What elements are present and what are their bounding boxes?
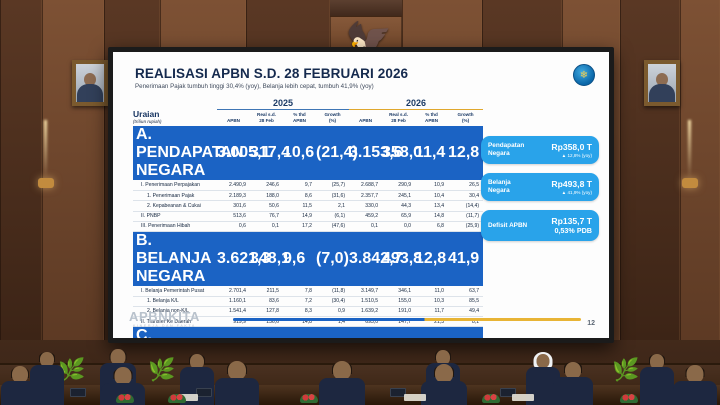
table-head: Uraian (triliun rupiah) 2025 2026 APBN R… [133,98,483,126]
row-value: 48,6 [250,327,283,338]
row-value: (11,8) [316,286,349,296]
table-row: A. PENDAPATAN NEGARA3.005,1317,410,6(21,… [133,126,483,180]
row-value: (25,7) [316,180,349,190]
apbnkita-tagline: KINERJA DAN FAKTA [129,324,200,328]
seated-official [638,347,676,405]
row-value: (173,8) [448,327,483,338]
slide-title: REALISASI APBN S.D. 28 FEBRUARI 2026 [135,66,408,81]
col-2025-real: Real s.d.28 Feb [250,110,283,127]
row-value: 7,8 [283,286,316,296]
row-label: C. KESEIMBANGAN PRIMER [133,327,217,338]
row-value: 11,0 [415,286,448,296]
row-value: 14,8 [415,211,448,221]
laptop [70,388,86,397]
person-head [537,354,550,368]
row-value: (25,9) [448,221,483,231]
row-value: 3.153,6 [349,126,382,180]
row-label: A. PENDAPATAN NEGARA [133,126,217,180]
row-value: 348,1 [250,231,283,286]
row-value: 63,7 [448,286,483,296]
table-body: A. PENDAPATAN NEGARA3.005,1317,410,6(21,… [133,126,483,338]
row-value: 10,3 [415,296,448,306]
table-row: I. Penerimaan Perpajakan2.490,9246,69,7(… [133,180,483,190]
row-value: 211,5 [250,286,283,296]
table-row: II. PNBP513,676,714,9(6,1)459,265,914,8(… [133,211,483,221]
summary-box-label: Defisit APBN [488,222,532,230]
row-value: 12,8 [448,126,483,180]
row-value: 10,4 [415,191,448,201]
table-year-header-row: Uraian (triliun rupiah) 2025 2026 [133,98,483,110]
person-torso [421,381,467,405]
row-value: 0,9 [316,306,349,316]
row-value: 1.510,5 [349,296,382,306]
row-value: 317,4 [250,126,283,180]
table-row: 1. Penerimaan Pajak2.189,3188,08,6(31,6)… [133,191,483,201]
year-2025-header: 2025 [217,98,349,110]
uraian-header: Uraian (triliun rupiah) [133,98,217,126]
seated-official [318,357,366,405]
row-label: 2. Kepabeanan & Cukai [133,201,217,211]
row-value: 2.701,4 [217,286,250,296]
summary-box-label: Pendapatan Negara [488,142,532,158]
row-value: (7,0) [316,231,349,286]
uraian-label: Uraian [133,109,217,119]
apbn-table-container: Uraian (triliun rupiah) 2025 2026 APBN R… [133,98,483,338]
wall-lamp [38,178,54,188]
kemenkeu-logo-icon: ❄ [573,64,595,86]
row-value: (93,7) [349,327,382,338]
projection-screen: REALISASI APBN S.D. 28 FEBRUARI 2026 Pen… [108,47,614,343]
seated-official [672,361,718,405]
row-value: (50,7) [316,327,349,338]
row-value: 11,4 [415,126,448,180]
nameplate [512,394,534,401]
slide-page-number: 12 [587,320,595,327]
row-value: 9,6 [283,231,316,286]
col-2025-pct: % thdAPBN [283,110,316,127]
wall-lamp-glow [44,120,47,178]
apbn-realization-table: Uraian (triliun rupiah) 2025 2026 APBN R… [133,98,483,338]
row-label: I. Belanja Pemerintah Pusat [133,286,217,296]
row-value: 14,9 [283,211,316,221]
row-value: 44,3 [382,201,415,211]
row-value: 49,4 [448,306,483,316]
person-torso [640,367,674,405]
table-row: 2. Kepabeanan & Cukai301,650,611,52,1330… [133,201,483,211]
row-label: II. PNBP [133,211,217,221]
summary-box: Defisit APBNRp135,7 T0,53% PDB [481,210,599,241]
row-value: 155,0 [382,296,415,306]
seated-official [28,345,66,405]
row-value: 8,3 [283,306,316,316]
seated-official [214,357,260,405]
summary-box-values: Rp135,7 T0,53% PDB [532,216,592,235]
row-value: 127,8 [250,306,283,316]
row-value: 493,8 [382,231,415,286]
row-value: (76,7) [283,327,316,338]
kemenkeu-logo-disc: ❄ [573,64,595,86]
row-value: 10,9 [415,180,448,190]
footer-accent-bar [233,318,581,321]
seated-official [552,357,594,405]
table-row: B. BELANJA NEGARA3.621,3348,19,6(7,0)3.8… [133,231,483,286]
row-value: (11,7) [448,211,483,221]
col-2026-growth: Growth(%) [448,110,483,127]
presentation-slide: REALISASI APBN S.D. 28 FEBRUARI 2026 Pen… [113,52,609,338]
col-2026-pct: % thdAPBN [415,110,448,127]
person-torso [553,377,593,405]
table-row: C. KESEIMBANGAN PRIMER(33,3)48,6(76,7)(5… [133,327,483,338]
summary-box-list: Pendapatan NegaraRp358,0 T▲ 12,8% (yoy)B… [481,136,599,250]
apbnkita-wordmark: APBNKITA [129,309,200,324]
slide-subtitle: Penerimaan Pajak tumbuh tinggi 30,4% (yo… [135,83,374,90]
row-value: 0,1 [250,221,283,231]
row-value: 245,1 [382,191,415,201]
uraian-unit: (triliun rupiah) [133,119,217,124]
official-portrait [644,60,680,106]
row-value: 2.189,3 [217,191,250,201]
row-value: 30,4 [448,191,483,201]
row-value: 459,2 [349,211,382,221]
wall-lamp [682,178,698,188]
row-value: 11,7 [415,306,448,316]
row-value: 13,4 [415,201,448,211]
row-value: 3.842,7 [349,231,382,286]
row-value: (47,6) [316,221,349,231]
summary-box-value: Rp493,8 T [532,179,592,189]
row-value: 7,2 [283,296,316,306]
row-value: 0,0 [382,221,415,231]
apbnkita-logo: APBNKITA KINERJA DAN FAKTA [129,309,200,328]
portrait-body [649,84,675,102]
row-value: 1.160,1 [217,296,250,306]
flower-arrangement [620,394,638,403]
person-torso [673,381,717,405]
row-label: 1. Penerimaan Pajak [133,191,217,201]
summary-box-growth: 0,53% PDB [532,226,592,235]
wall-panel [0,0,42,340]
row-value: 358,0 [382,126,415,180]
year-2026-header: 2026 [349,98,483,110]
row-value: 2.688,7 [349,180,382,190]
row-value: 40,0 [415,327,448,338]
row-value: 0,6 [217,221,250,231]
col-2026-apbn: APBN [349,110,382,127]
wall-lamp-glow [688,120,691,178]
row-value: (33,3) [217,327,250,338]
potted-plant: 🌿 [612,359,639,381]
row-value: (35,9) [382,327,415,338]
row-value: 11,5 [283,201,316,211]
row-value: 6,8 [415,221,448,231]
row-value: 17,2 [283,221,316,231]
row-label: I. Penerimaan Perpajakan [133,180,217,190]
summary-box-label: Belanja Negara [488,179,532,195]
flower-arrangement [168,394,186,403]
wall-panel [680,0,720,340]
row-value: 1.639,2 [349,306,382,316]
wall-panel [42,0,104,340]
person-torso [30,365,64,405]
summary-box-values: Rp493,8 T▲ 41,9% (yoy) [532,179,592,195]
person-torso [319,378,365,405]
row-value: 513,6 [217,211,250,221]
row-value: (30,4) [316,296,349,306]
wall-panel [620,0,680,340]
row-value: 26,5 [448,180,483,190]
nameplate [404,394,426,401]
row-value: 2.490,9 [217,180,250,190]
summary-box-growth: ▲ 12,8% (yoy) [532,153,592,158]
summary-box: Pendapatan NegaraRp358,0 T▲ 12,8% (yoy) [481,136,599,164]
laptop [196,388,212,397]
summary-box-value: Rp135,7 T [532,216,592,226]
summary-box-values: Rp358,0 T▲ 12,8% (yoy) [532,142,592,158]
potted-plant: 🌿 [148,359,175,381]
row-value: 3.149,7 [349,286,382,296]
row-value: 3.621,3 [217,231,250,286]
official-portrait [72,60,108,106]
row-value: 290,9 [382,180,415,190]
flower-arrangement [300,394,318,403]
row-value: 85,5 [448,296,483,306]
row-value: 191,0 [382,306,415,316]
summary-box-value: Rp358,0 T [532,142,592,152]
row-label: 1. Belanja K/L [133,296,217,306]
portrait-body [77,84,103,102]
row-value: 65,9 [382,211,415,221]
row-value: 246,6 [250,180,283,190]
row-value: 41,9 [448,231,483,286]
row-value: 0,1 [349,221,382,231]
person-torso [215,378,259,405]
row-value: 50,6 [250,201,283,211]
row-value: 9,7 [283,180,316,190]
row-value: 1.541,4 [217,306,250,316]
summary-box-growth: ▲ 41,9% (yoy) [532,190,592,195]
row-value: 3.005,1 [217,126,250,180]
row-value: 2.357,7 [349,191,382,201]
seated-official [420,361,468,405]
row-value: 2,1 [316,201,349,211]
table-row: III. Penerimaan Hibah0,60,117,2(47,6)0,1… [133,221,483,231]
row-value: (21,4) [316,126,349,180]
summary-box: Belanja NegaraRp493,8 T▲ 41,9% (yoy) [481,173,599,201]
flower-arrangement [482,394,500,403]
row-value: (14,4) [448,201,483,211]
row-value: (6,1) [316,211,349,221]
row-value: 301,6 [217,201,250,211]
table-row: I. Belanja Pemerintah Pusat2.701,4211,57… [133,286,483,296]
row-value: 83,6 [250,296,283,306]
col-2025-growth: Growth(%) [316,110,349,127]
row-value: 10,6 [283,126,316,180]
row-label: B. BELANJA NEGARA [133,231,217,286]
col-2026-real: Real s.d.28 Feb [382,110,415,127]
row-value: 188,0 [250,191,283,201]
row-value: 330,0 [349,201,382,211]
row-value: 12,8 [415,231,448,286]
row-value: 8,6 [283,191,316,201]
table-row: 1. Belanja K/L1.160,183,67,2(30,4)1.510,… [133,296,483,306]
row-value: (31,6) [316,191,349,201]
row-value: 346,1 [382,286,415,296]
row-value: 76,7 [250,211,283,221]
row-label: III. Penerimaan Hibah [133,221,217,231]
flower-arrangement [116,394,134,403]
col-2025-apbn: APBN [217,110,250,127]
